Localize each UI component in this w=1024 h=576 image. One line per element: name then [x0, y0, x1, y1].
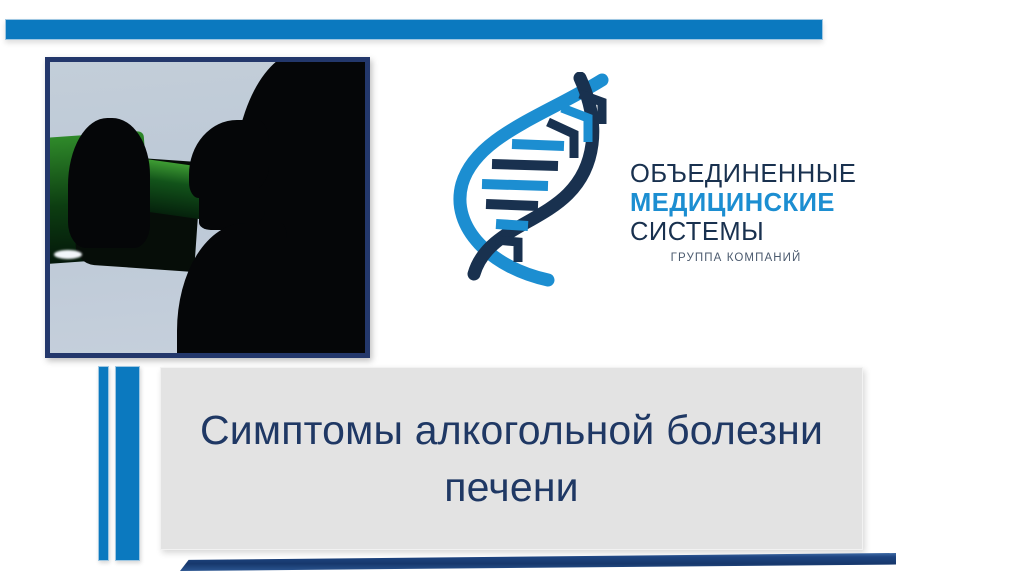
bottom-accent-bar [180, 553, 896, 571]
logo-tagline: ГРУППА КОМПАНИЙ [630, 252, 842, 264]
nose-silhouette-shape [189, 120, 269, 198]
photo-image [50, 62, 365, 353]
logo-wordmark: ОБЪЕДИНЕННЫЕ МЕДИЦИНСКИЕ СИСТЕМЫ ГРУППА … [630, 160, 842, 264]
company-logo: ОБЪЕДИНЕННЫЕ МЕДИЦИНСКИЕ СИСТЕМЫ ГРУППА … [452, 72, 842, 292]
bottle-glint-shape [54, 250, 82, 259]
vertical-accent-bar-wide [115, 366, 140, 561]
title-photo [45, 57, 370, 358]
logo-line-1: ОБЪЕДИНЕННЫЕ [630, 160, 842, 189]
title-panel: Симптомы алкогольной болезни печени [160, 367, 863, 550]
logo-line-2: МЕДИЦИНСКИЕ [630, 189, 842, 218]
bottom-accent-bar-shape [180, 553, 896, 571]
top-accent-bar [5, 19, 823, 40]
logo-line-3: СИСТЕМЫ [630, 218, 842, 247]
dna-helix-icon [452, 72, 627, 292]
presentation-slide: ОБЪЕДИНЕННЫЕ МЕДИЦИНСКИЕ СИСТЕМЫ ГРУППА … [0, 0, 1024, 576]
page-title: Симптомы алкогольной болезни печени [161, 402, 862, 515]
vertical-accent-bar-thin [98, 366, 109, 561]
hand-silhouette-shape [68, 118, 150, 248]
